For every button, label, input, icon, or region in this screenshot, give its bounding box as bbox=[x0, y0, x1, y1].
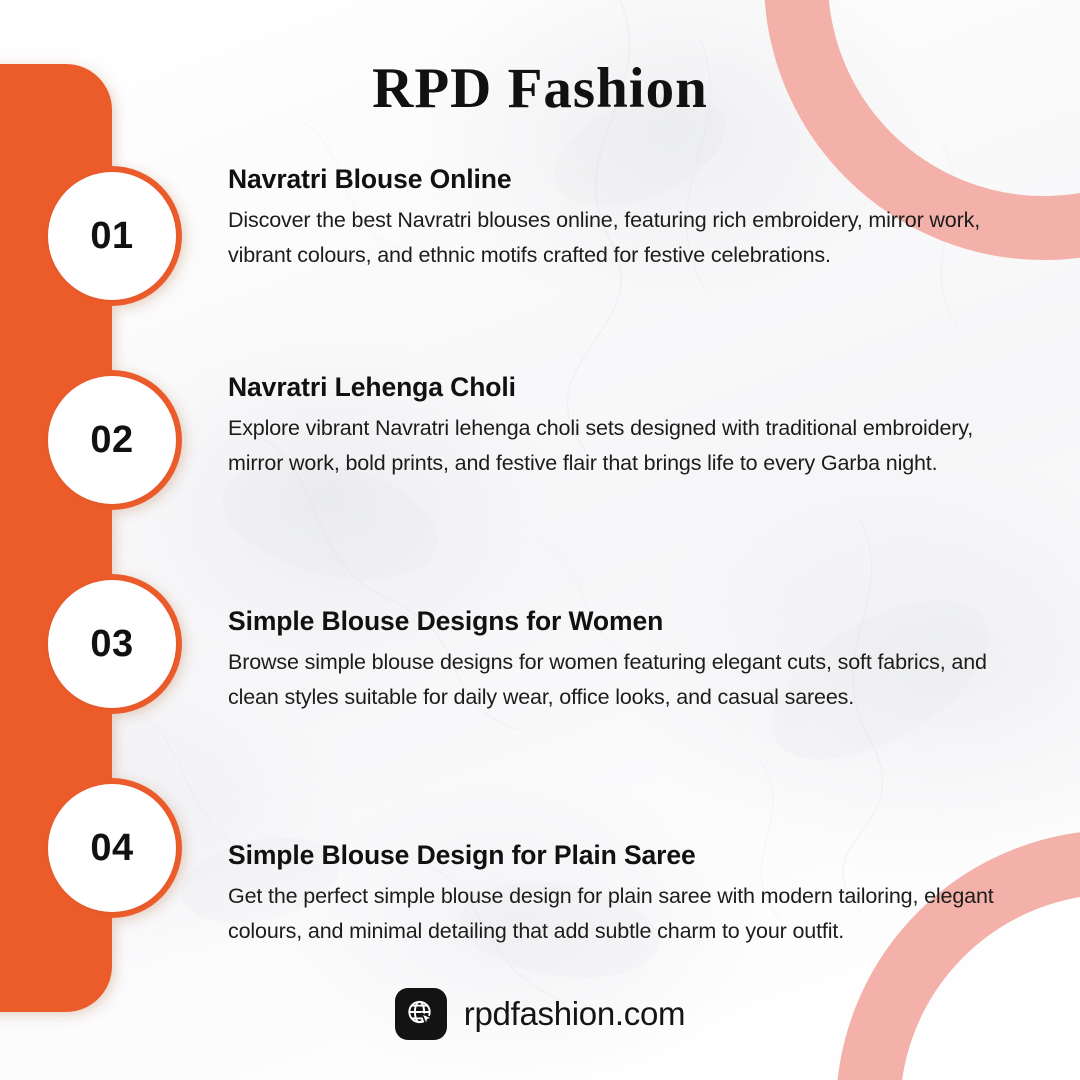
step-number-03: 03 bbox=[90, 623, 133, 666]
page-title: RPD Fashion bbox=[0, 56, 1080, 121]
item-body-03: Browse simple blouse designs for women f… bbox=[228, 645, 1018, 715]
step-number-02: 02 bbox=[90, 419, 133, 462]
website-url: rpdfashion.com bbox=[464, 995, 685, 1033]
list-item-04: Simple Blouse Design for Plain Saree Get… bbox=[228, 840, 1018, 1000]
orange-sidebar-shape bbox=[0, 0, 260, 1080]
step-badge-02: 02 bbox=[48, 376, 176, 504]
item-heading-03: Simple Blouse Designs for Women bbox=[228, 606, 1018, 638]
list-item-03: Simple Blouse Designs for Women Browse s… bbox=[228, 606, 1018, 810]
globe-cursor-icon bbox=[395, 988, 447, 1040]
step-badge-03: 03 bbox=[48, 580, 176, 708]
list-item-02: Navratri Lehenga Choli Explore vibrant N… bbox=[228, 372, 1018, 576]
item-body-04: Get the perfect simple blouse design for… bbox=[228, 879, 1018, 949]
item-heading-04: Simple Blouse Design for Plain Saree bbox=[228, 840, 1018, 872]
content-list: Navratri Blouse Online Discover the best… bbox=[228, 164, 1018, 1030]
step-number-04: 04 bbox=[90, 827, 133, 870]
footer: rpdfashion.com bbox=[0, 988, 1080, 1040]
step-number-01: 01 bbox=[90, 215, 133, 258]
step-badge-04: 04 bbox=[48, 784, 176, 912]
poster-canvas: 01 02 03 04 RPD Fashion Navratri Blouse … bbox=[0, 0, 1080, 1080]
item-body-01: Discover the best Navratri blouses onlin… bbox=[228, 203, 1018, 273]
item-heading-01: Navratri Blouse Online bbox=[228, 164, 1018, 196]
step-badge-01: 01 bbox=[48, 172, 176, 300]
list-item-01: Navratri Blouse Online Discover the best… bbox=[228, 164, 1018, 342]
item-body-02: Explore vibrant Navratri lehenga choli s… bbox=[228, 411, 1018, 481]
item-heading-02: Navratri Lehenga Choli bbox=[228, 372, 1018, 404]
